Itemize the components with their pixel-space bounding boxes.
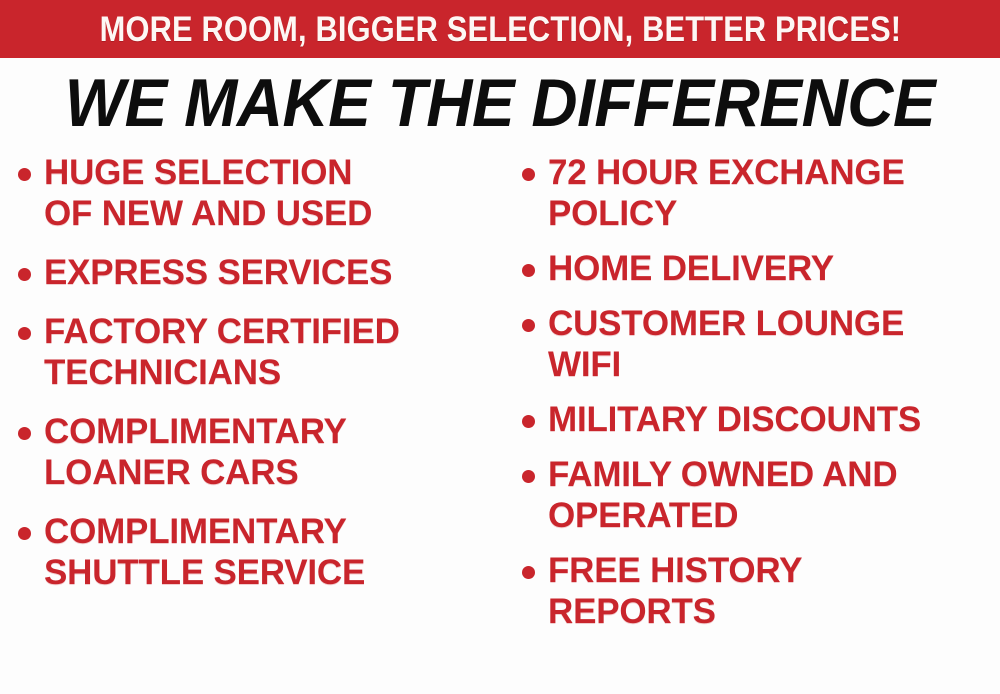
bullet-dot-icon xyxy=(522,566,535,579)
bullet-dot-icon xyxy=(522,415,535,428)
bullet-dot-icon xyxy=(522,470,535,483)
feature-label: HOME DELIVERY xyxy=(548,248,834,289)
bullet-dot-icon xyxy=(522,319,535,332)
list-item: FACTORY CERTIFIED TECHNICIANS xyxy=(18,311,500,393)
page-title: WE MAKE THE DIFFERENCE xyxy=(65,68,935,138)
feature-label: MILITARY DISCOUNTS xyxy=(548,399,921,440)
bullet-dot-icon xyxy=(18,168,31,181)
feature-label: HUGE SELECTION OF NEW AND USED xyxy=(44,152,372,234)
feature-label: 72 HOUR EXCHANGE POLICY xyxy=(548,152,905,234)
bullet-dot-icon xyxy=(18,527,31,540)
list-item: HOME DELIVERY xyxy=(522,248,1000,289)
feature-label: FREE HISTORY REPORTS xyxy=(548,550,802,632)
feature-label: FACTORY CERTIFIED TECHNICIANS xyxy=(44,311,400,393)
feature-label: FAMILY OWNED AND OPERATED xyxy=(548,454,897,536)
bullet-dot-icon xyxy=(18,427,31,440)
bullet-dot-icon xyxy=(522,264,535,277)
feature-label: COMPLIMENTARY SHUTTLE SERVICE xyxy=(44,511,365,593)
features-columns: HUGE SELECTION OF NEW AND USED EXPRESS S… xyxy=(0,152,1000,694)
list-item: COMPLIMENTARY LOANER CARS xyxy=(18,411,500,493)
list-item: CUSTOMER LOUNGE WIFI xyxy=(522,303,1000,385)
promo-banner-text: MORE ROOM, BIGGER SELECTION, BETTER PRIC… xyxy=(99,12,901,47)
list-item: COMPLIMENTARY SHUTTLE SERVICE xyxy=(18,511,500,593)
bullet-dot-icon xyxy=(18,327,31,340)
headline-container: WE MAKE THE DIFFERENCE xyxy=(0,62,1000,144)
list-item: EXPRESS SERVICES xyxy=(18,252,500,293)
top-promo-banner: MORE ROOM, BIGGER SELECTION, BETTER PRIC… xyxy=(0,0,1000,58)
list-item: MILITARY DISCOUNTS xyxy=(522,399,1000,440)
advertisement-banner: MORE ROOM, BIGGER SELECTION, BETTER PRIC… xyxy=(0,0,1000,694)
feature-label: EXPRESS SERVICES xyxy=(44,252,392,293)
list-item: HUGE SELECTION OF NEW AND USED xyxy=(18,152,500,234)
bullet-dot-icon xyxy=(18,268,31,281)
list-item: 72 HOUR EXCHANGE POLICY xyxy=(522,152,1000,234)
list-item: FAMILY OWNED AND OPERATED xyxy=(522,454,1000,536)
list-item: FREE HISTORY REPORTS xyxy=(522,550,1000,632)
feature-label: COMPLIMENTARY LOANER CARS xyxy=(44,411,347,493)
features-column-right: 72 HOUR EXCHANGE POLICY HOME DELIVERY CU… xyxy=(500,152,1000,694)
feature-label: CUSTOMER LOUNGE WIFI xyxy=(548,303,904,385)
bullet-dot-icon xyxy=(522,168,535,181)
features-column-left: HUGE SELECTION OF NEW AND USED EXPRESS S… xyxy=(0,152,500,694)
